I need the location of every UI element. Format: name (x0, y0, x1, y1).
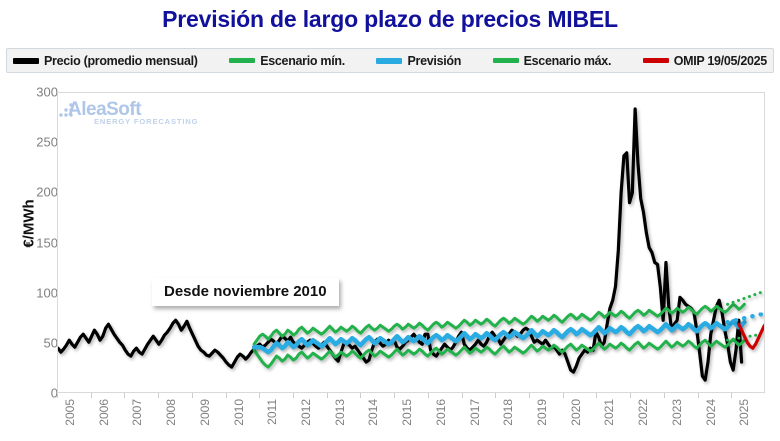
x-tick-label: 2018 (501, 399, 515, 441)
legend-swatch-icon (493, 58, 519, 63)
chart-root: Previsión de largo plazo de precios MIBE… (0, 0, 780, 440)
x-tick-label: 2021 (602, 399, 616, 441)
x-tick-label: 2010 (232, 399, 246, 441)
legend-item-1[interactable]: Escenario mín. (229, 54, 345, 68)
x-tick-mark (495, 393, 496, 398)
y-tick-label: 0 (12, 386, 58, 401)
legend-item-0[interactable]: Precio (promedio mensual) (13, 54, 198, 68)
legend-label: Escenario mín. (260, 54, 345, 68)
y-tick-label: 100 (12, 285, 58, 300)
x-tick-label: 2006 (97, 399, 111, 441)
x-tick-label: 2023 (670, 399, 684, 441)
x-tick-label: 2008 (164, 399, 178, 441)
x-tick-mark (630, 393, 631, 398)
x-tick-mark (462, 393, 463, 398)
legend-swatch-icon (13, 58, 39, 64)
x-tick-mark (124, 393, 125, 398)
y-tick-label: 250 (12, 135, 58, 150)
series-line-4 (728, 292, 762, 304)
y-tick-label: 50 (12, 335, 58, 350)
x-tick-mark (293, 393, 294, 398)
legend-label: Precio (promedio mensual) (44, 54, 198, 68)
x-tick-mark (91, 393, 92, 398)
x-tick-label: 2007 (130, 399, 144, 441)
y-tick-label: 200 (12, 185, 58, 200)
x-tick-mark (360, 393, 361, 398)
x-tick-mark (731, 393, 732, 398)
x-tick-label: 2022 (636, 399, 650, 441)
legend-label: Previsión (407, 54, 461, 68)
plot-svg (58, 93, 764, 392)
x-tick-mark (192, 393, 193, 398)
x-tick-label: 2012 (299, 399, 313, 441)
page-title: Previsión de largo plazo de precios MIBE… (0, 6, 780, 33)
legend-label: Escenario máx. (524, 54, 612, 68)
x-tick-label: 2009 (198, 399, 212, 441)
y-tick-label: 150 (12, 235, 58, 250)
legend-item-4[interactable]: OMIP 19/05/2025 (643, 54, 767, 68)
x-tick-mark (226, 393, 227, 398)
legend-item-3[interactable]: Escenario máx. (493, 54, 612, 68)
x-tick-mark (428, 393, 429, 398)
chart-legend: Precio (promedio mensual)Escenario mín.P… (6, 48, 774, 73)
legend-swatch-icon (376, 58, 402, 64)
annotation-desde-noviembre: Desde noviembre 2010 (152, 278, 339, 306)
legend-swatch-icon (643, 58, 669, 63)
y-tick-label: 300 (12, 85, 58, 100)
x-tick-label: 2025 (737, 399, 751, 441)
x-tick-label: 2017 (468, 399, 482, 441)
x-tick-label: 2005 (63, 399, 77, 441)
x-tick-mark (57, 393, 58, 398)
x-tick-label: 2013 (333, 399, 347, 441)
x-tick-label: 2015 (400, 399, 414, 441)
x-tick-mark (327, 393, 328, 398)
x-tick-mark (664, 393, 665, 398)
legend-item-2[interactable]: Previsión (376, 54, 461, 68)
x-tick-mark (563, 393, 564, 398)
x-tick-label: 2011 (265, 399, 279, 441)
x-tick-label: 2024 (704, 399, 718, 441)
x-tick-mark (529, 393, 530, 398)
legend-swatch-icon (229, 58, 255, 63)
x-tick-mark (596, 393, 597, 398)
x-tick-mark (259, 393, 260, 398)
x-tick-mark (394, 393, 395, 398)
x-tick-mark (698, 393, 699, 398)
x-tick-label: 2020 (569, 399, 583, 441)
x-tick-label: 2019 (535, 399, 549, 441)
legend-label: OMIP 19/05/2025 (674, 54, 767, 68)
x-tick-label: 2016 (434, 399, 448, 441)
x-tick-mark (158, 393, 159, 398)
x-tick-label: 2014 (366, 399, 380, 441)
plot-area (57, 92, 765, 393)
